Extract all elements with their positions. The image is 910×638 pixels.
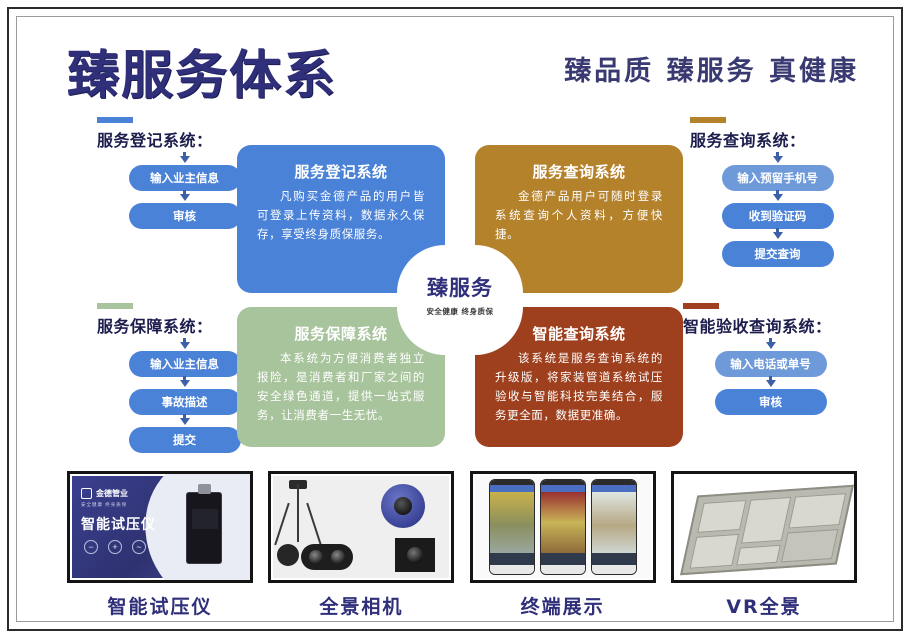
phone-content [592,492,636,553]
arrow-down-icon [180,380,190,387]
arrow-down-icon [180,342,190,349]
flow-step-incident-description[interactable]: 事故描述 [129,389,241,415]
card-title: 服务登记系统 [257,161,425,182]
gallery-caption: 智能试压仪 [67,592,253,619]
vr-headset-icon [301,544,353,570]
card-title: 服务保障系统 [257,323,425,344]
poster-feature-icons: − + ~ [84,540,146,554]
plus-icon: + [108,540,122,554]
minus-icon: − [84,540,98,554]
flow-step-input-phone[interactable]: 输入预留手机号 [722,165,834,191]
gallery-image-frame [671,471,857,583]
card-body: 金德产品用户可随时登录系统查询个人资料，方便快捷。 [495,187,663,244]
poster-product-title: 智能试压仪 [81,514,156,534]
phone-content [490,492,534,553]
flow-accent-bar [683,303,719,309]
card-body: 本系统为方便消费者独立报险，是消费者和厂家之间的安全绿色通道，提供一站式服务，让… [257,349,425,425]
card-smart-query[interactable]: 智能查询系统 该系统是服务查询系统的升级版，将家装管道系统试压验收与智能科技完美… [475,307,683,447]
phone-thumb-strip [490,553,534,565]
flow-step-receive-code[interactable]: 收到验证码 [722,203,834,229]
flow-step-submit[interactable]: 提交 [129,427,241,453]
phone-nav-bar [541,485,585,492]
card-body: 该系统是服务查询系统的升级版，将家装管道系统试压验收与智能科技完美结合，服务更全… [495,349,663,425]
flow-accent-bar [97,303,133,309]
tripod-leg-icon [275,503,290,545]
phone-bottom-bar [592,565,636,574]
gallery-caption: VR全景 [671,592,857,619]
phone-mockup [591,479,637,575]
center-hub: 臻服务 安全健康 终身质保 [412,249,508,345]
poster-root: 臻服务体系 臻品质 臻服务 真健康 服务登记系统： 输入业主信息 审核 服务查询… [0,0,910,638]
floorplan-room [781,529,838,562]
poster-tagline: 安全健康 终身质保 [81,502,127,508]
flow-accent-bar [97,117,133,123]
poster-smart-pressure-tester: 金德管业 安全健康 终身质保 智能试压仪 − + ~ [72,476,248,578]
phone-thumb-strip [592,553,636,565]
poster-panoramic-camera [273,476,449,578]
flow-step-input-owner-info[interactable]: 输入业主信息 [129,351,241,377]
floorplan-room [788,493,846,528]
wave-icon: ~ [132,540,146,554]
tripod-leg-icon [307,503,322,545]
floorplan-room [741,497,791,544]
flow-step-review[interactable]: 审核 [129,203,241,229]
gallery-image-frame: 金德管业 安全健康 终身质保 智能试压仪 − + ~ [67,471,253,583]
phone-mockup [489,479,535,575]
phone-thumb-strip [541,553,585,565]
gallery-item-terminal-display[interactable]: 终端展示 [470,471,656,619]
arrow-down-icon [766,380,776,387]
flow-service-query: 服务查询系统： 输入预留手机号 收到验证码 提交查询 [690,117,865,267]
device-screen [192,509,218,529]
card-title: 智能查询系统 [495,323,663,344]
arrow-down-icon [180,418,190,425]
slogan: 臻品质 臻服务 真健康 [564,49,859,88]
flow-accent-bar [690,117,726,123]
panoramic-camera-icon [381,484,425,528]
arrow-down-icon [180,156,190,163]
flow-title: 智能验收查询系统： [683,313,858,337]
gallery-item-vr-panorama[interactable]: VR全景 [671,471,857,619]
gallery-caption: 终端展示 [470,592,656,619]
floorplan-room [689,534,739,569]
poster-terminal-display [475,476,651,578]
camera-disc-icon [277,544,299,566]
hub-subtitle: 安全健康 终身质保 [426,306,493,317]
phone-bottom-bar [541,565,585,574]
flow-step-submit-query[interactable]: 提交查询 [722,241,834,267]
card-service-registration[interactable]: 服务登记系统 凡购买金德产品的用户皆可登录上传资料，数据永久保存，享受终身质保服… [237,145,445,293]
arrow-down-icon [180,194,190,201]
flow-step-input-owner-info[interactable]: 输入业主信息 [129,165,241,191]
floorplan-3d-image [680,485,854,576]
card-body: 凡购买金德产品的用户皆可登录上传资料，数据永久保存，享受终身质保服务。 [257,187,425,244]
phone-nav-bar [592,485,636,492]
flow-steps: 输入预留手机号 收到验证码 提交查询 [690,153,865,267]
camera-lens-icon [395,538,435,572]
flow-steps: 输入电话或单号 审核 [683,339,858,415]
tripod-leg-icon [297,484,299,542]
card-service-guarantee[interactable]: 服务保障系统 本系统为方便消费者独立报险，是消费者和厂家之间的安全绿色通道，提供… [237,307,445,447]
phone-content [541,492,585,553]
phone-bottom-bar [490,565,534,574]
hub-title: 臻服务 [427,278,493,299]
flow-step-review[interactable]: 审核 [715,389,827,415]
arrow-down-icon [773,232,783,239]
arrow-down-icon [773,194,783,201]
phone-mockup [540,479,586,575]
poster-brand-name: 金德管业 [96,488,128,499]
gallery-item-smart-pressure-tester[interactable]: 金德管业 安全健康 终身质保 智能试压仪 − + ~ 智能试压仪 [67,471,253,619]
pressure-tester-device-image [186,492,222,564]
flow-title: 服务查询系统： [690,127,865,151]
poster-vr-panorama [676,476,852,578]
jinde-logo-icon [81,488,92,499]
page-title: 臻服务体系 [67,33,337,108]
arrow-down-icon [773,156,783,163]
gallery-item-panoramic-camera[interactable]: 全景相机 [268,471,454,619]
poster-brand-row: 金德管业 [81,488,128,499]
gallery-image-frame [268,471,454,583]
floorplan-room [736,545,781,566]
gallery-image-frame [470,471,656,583]
flow-step-input-phone-or-order[interactable]: 输入电话或单号 [715,351,827,377]
floorplan-room [697,500,746,533]
flow-smart-acceptance-query: 智能验收查询系统： 输入电话或单号 审核 [683,303,858,415]
gallery-caption: 全景相机 [268,592,454,619]
product-gallery: 金德管业 安全健康 终身质保 智能试压仪 − + ~ 智能试压仪 [67,471,857,619]
card-service-query[interactable]: 服务查询系统 金德产品用户可随时登录系统查询个人资料，方便快捷。 [475,145,683,293]
card-title: 服务查询系统 [495,161,663,182]
arrow-down-icon [766,342,776,349]
phone-nav-bar [490,485,534,492]
